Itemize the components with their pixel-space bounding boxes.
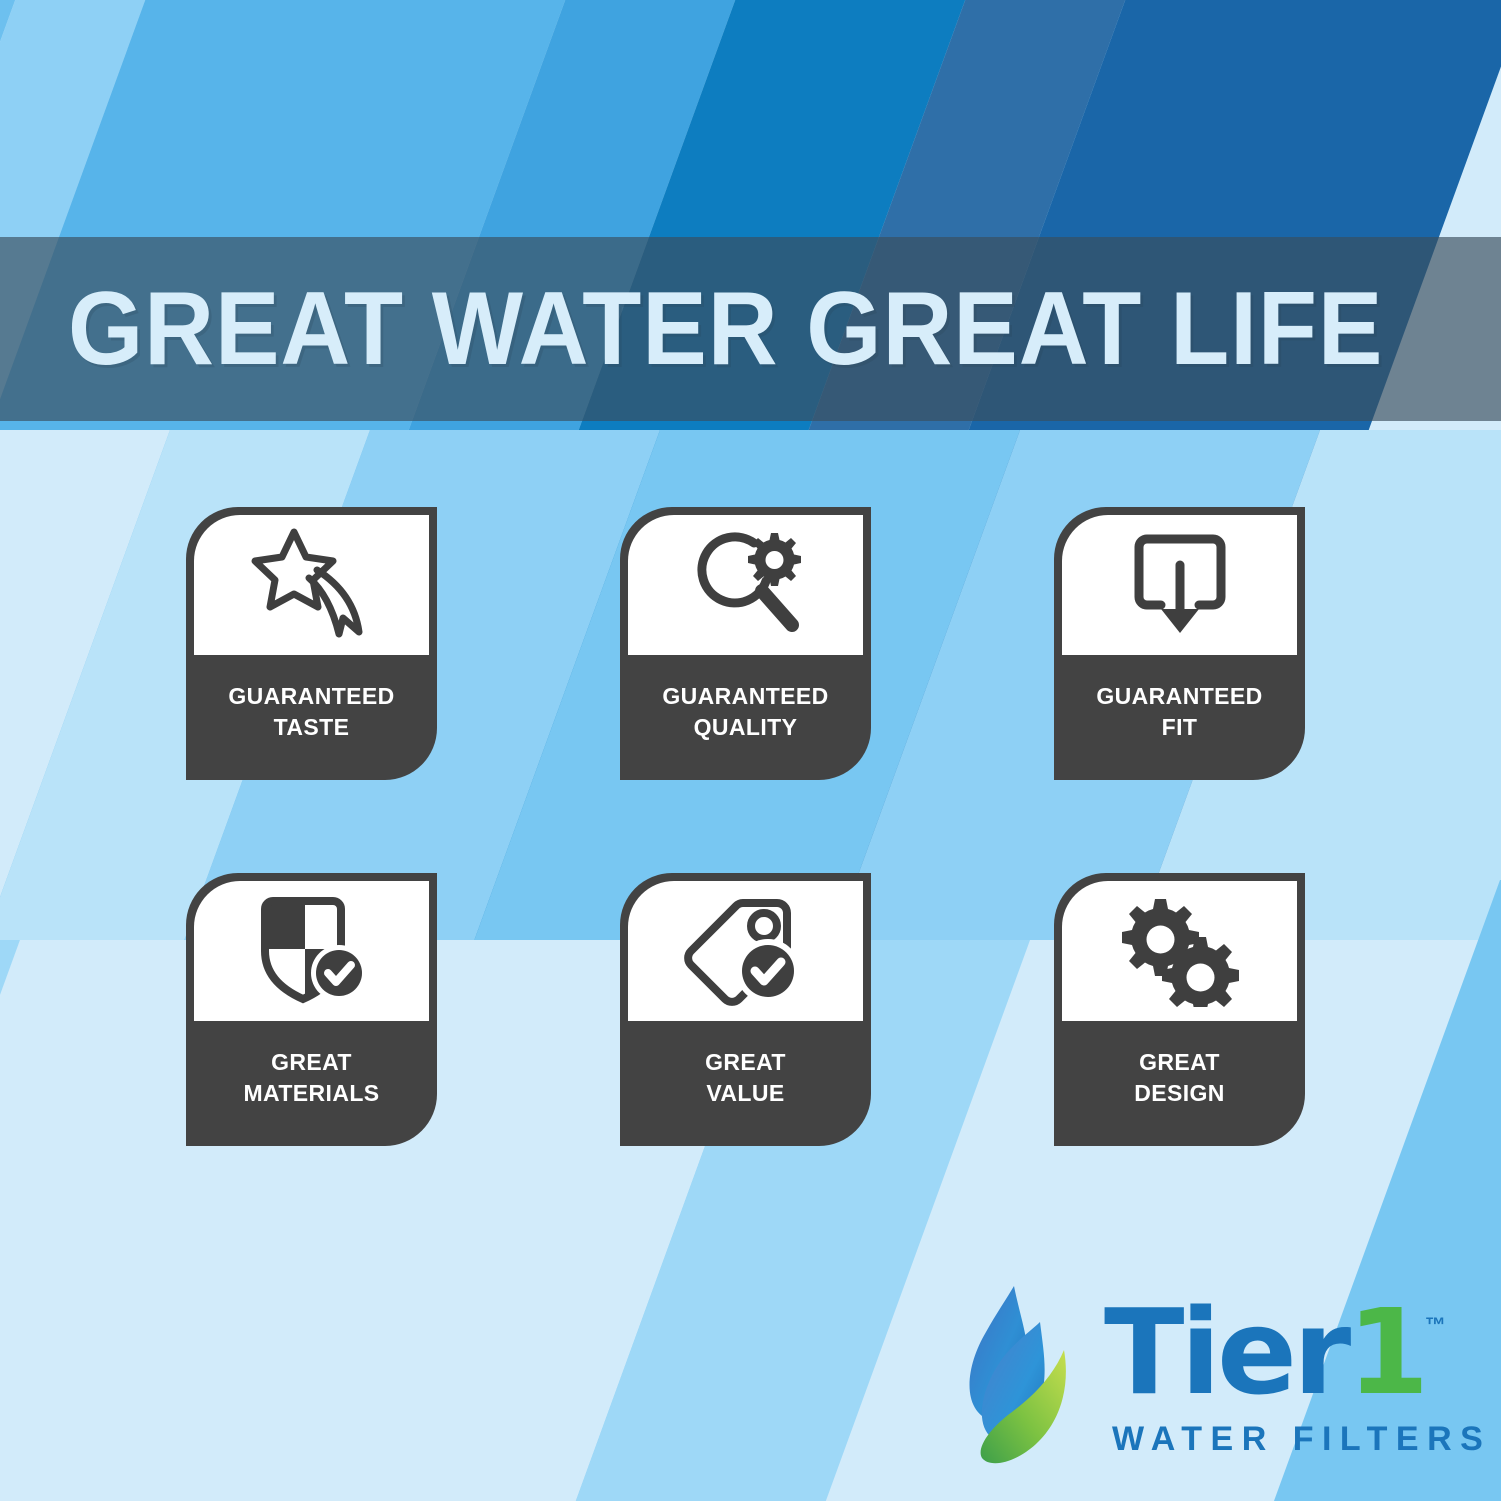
card-label: GREAT MATERIALS xyxy=(194,1021,429,1146)
brand-logo: Tier1 ™ WATER FILTERS xyxy=(952,1268,1442,1483)
card-label-line1: GUARANTEED xyxy=(228,681,394,712)
card-label-line1: GUARANTEED xyxy=(1096,681,1262,712)
card-label-line1: GREAT xyxy=(1139,1047,1220,1078)
card-label-line1: GUARANTEED xyxy=(662,681,828,712)
feature-card-guaranteed-quality[interactable]: GUARANTEED QUALITY xyxy=(620,507,871,780)
card-label: GUARANTEED QUALITY xyxy=(628,655,863,780)
feature-card-guaranteed-taste[interactable]: GUARANTEED TASTE xyxy=(186,507,437,780)
card-icon-panel xyxy=(1062,515,1297,655)
shield-check-icon xyxy=(251,895,373,1007)
card-label-line2: MATERIALS xyxy=(243,1078,379,1109)
card-icon-panel xyxy=(194,515,429,655)
feature-card-grid: GUARANTEED TASTE G xyxy=(186,507,1336,1146)
feature-card-great-value[interactable]: GREAT VALUE xyxy=(620,873,871,1146)
shooting-star-icon xyxy=(247,526,377,644)
card-row-top: GUARANTEED TASTE G xyxy=(186,507,1336,780)
magnifier-gear-icon xyxy=(680,529,812,641)
logo-wordmark: Tier1 ™ xyxy=(1104,1296,1444,1408)
card-label-line1: GREAT xyxy=(271,1047,352,1078)
price-tag-check-icon xyxy=(681,895,811,1007)
card-label-line2: FIT xyxy=(1162,712,1198,743)
card-label: GUARANTEED FIT xyxy=(1062,655,1297,780)
trademark-symbol: ™ xyxy=(1425,1314,1446,1338)
feature-card-great-design[interactable]: GREAT DESIGN xyxy=(1054,873,1305,1146)
logo-tagline: WATER FILTERS xyxy=(1112,1420,1491,1459)
feature-card-guaranteed-fit[interactable]: GUARANTEED FIT xyxy=(1054,507,1305,780)
card-label: GREAT DESIGN xyxy=(1062,1021,1297,1146)
card-icon-panel xyxy=(194,881,429,1021)
logo-word-text: Tier1 xyxy=(1104,1296,1444,1408)
card-icon-panel xyxy=(628,515,863,655)
page-title: GREAT WATER GREAT LIFE xyxy=(68,277,1383,381)
card-icon-panel xyxy=(1062,881,1297,1021)
feature-card-great-materials[interactable]: GREAT MATERIALS xyxy=(186,873,437,1146)
card-icon-panel xyxy=(628,881,863,1021)
poster-canvas: GREAT WATER GREAT LIFE GUARANTEED TASTE xyxy=(0,0,1501,1501)
headline-band: GREAT WATER GREAT LIFE xyxy=(0,237,1501,421)
card-label-line2: TASTE xyxy=(274,712,350,743)
card-label-line2: VALUE xyxy=(706,1078,784,1109)
arrow-into-slot-icon xyxy=(1125,529,1235,641)
card-row-bottom: GREAT MATERIALS GREAT VAL xyxy=(186,873,1336,1146)
card-label: GREAT VALUE xyxy=(628,1021,863,1146)
gears-icon xyxy=(1119,895,1241,1007)
card-label: GUARANTEED TASTE xyxy=(194,655,429,780)
logo-word-tier: Tier xyxy=(1104,1283,1347,1421)
card-label-line2: DESIGN xyxy=(1134,1078,1225,1109)
logo-word-one: 1 xyxy=(1347,1283,1425,1421)
water-drop-leaf-icon xyxy=(952,1278,1102,1478)
card-label-line2: QUALITY xyxy=(694,712,798,743)
card-label-line1: GREAT xyxy=(705,1047,786,1078)
